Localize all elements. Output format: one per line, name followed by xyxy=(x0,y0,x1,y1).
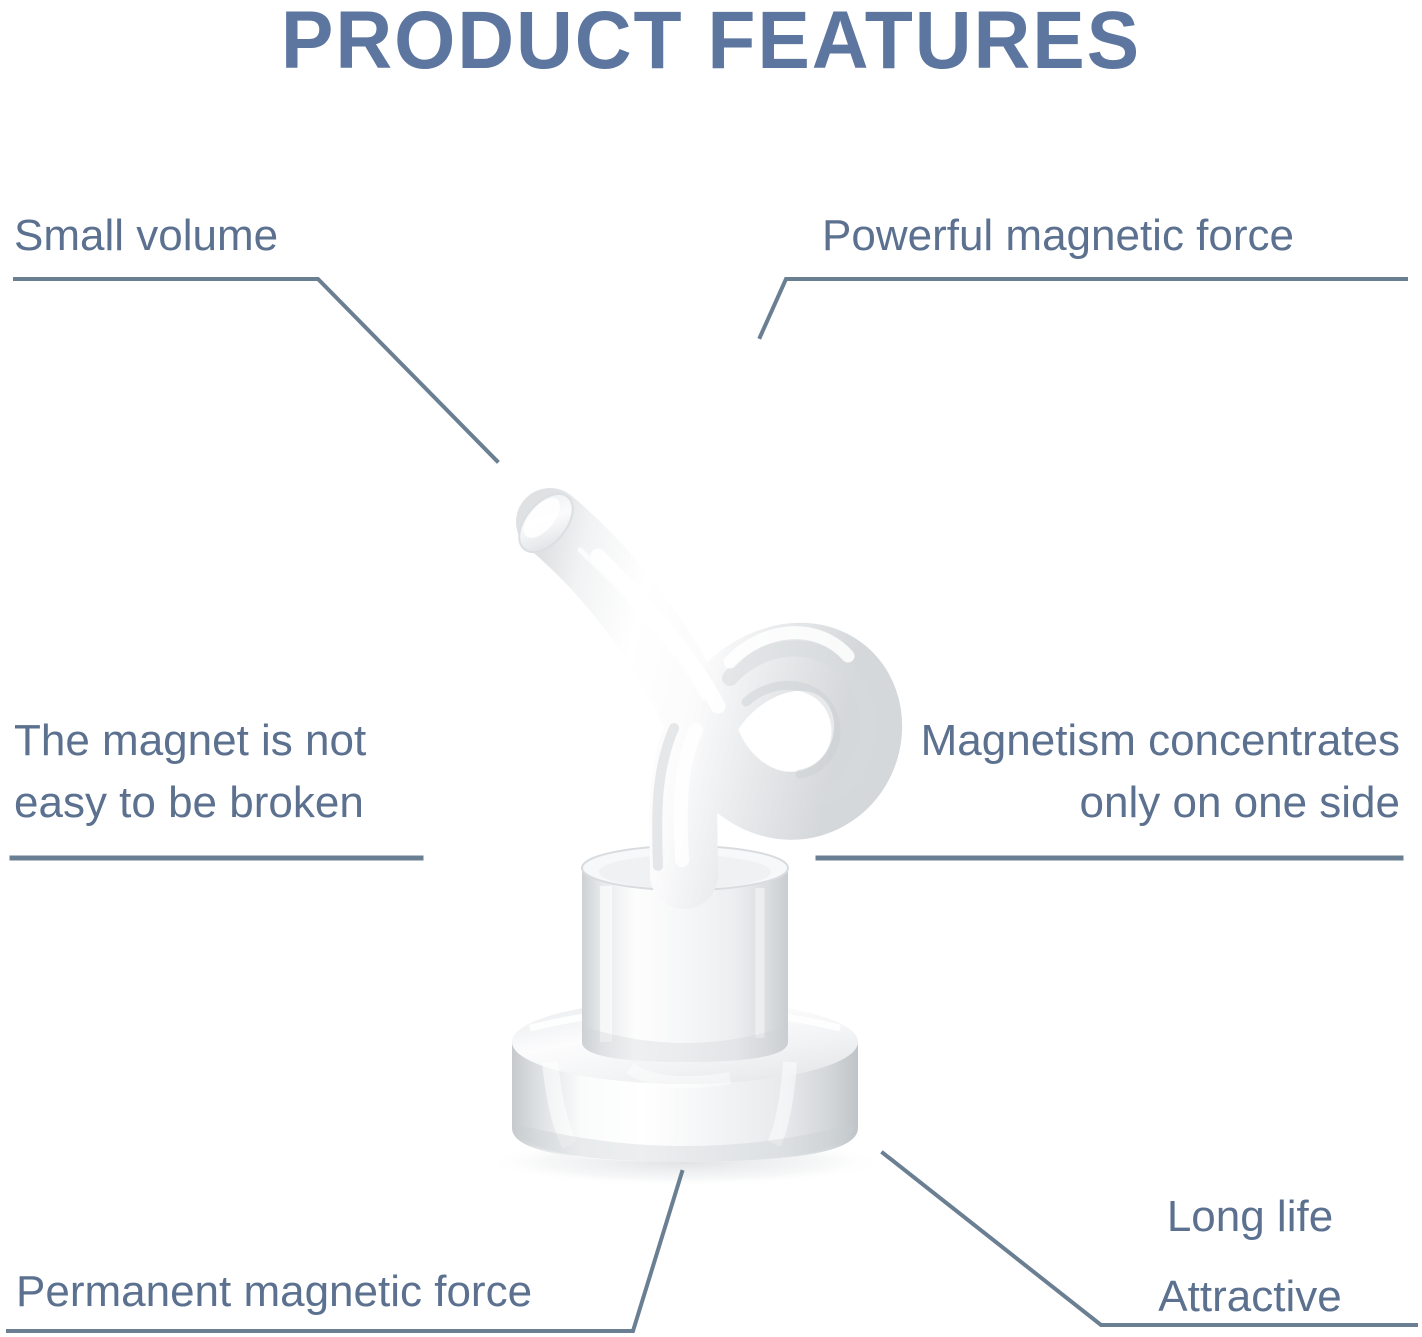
feature-label-powerful-magnetic-force: Powerful magnetic force xyxy=(822,206,1294,266)
feature-label-permanent-magnetic-force: Permanent magnetic force xyxy=(16,1262,532,1322)
feature-label-attractive: Attractive xyxy=(1100,1266,1400,1328)
feature-label-magnetism-concentrates-line2: only on one side xyxy=(818,772,1400,834)
page-title: PRODUCT FEATURES xyxy=(28,0,1393,88)
feature-label-small-volume: Small volume xyxy=(14,206,278,266)
feature-label-magnet-not-broken-line1: The magnet is not xyxy=(14,710,366,772)
feature-label-magnetism-concentrates: Magnetism concentrates only on one side xyxy=(818,710,1400,834)
feature-label-long-life-attractive: Long life Attractive xyxy=(1100,1186,1400,1328)
feature-label-magnet-not-broken: The magnet is not easy to be broken xyxy=(14,710,366,834)
hook-body xyxy=(509,484,868,875)
feature-label-magnet-not-broken-line2: easy to be broken xyxy=(14,772,366,834)
product-features-infographic: PRODUCT FEATURES xyxy=(0,0,1422,1337)
feature-label-magnetism-concentrates-line1: Magnetism concentrates xyxy=(818,710,1400,772)
leader-line-small-volume xyxy=(15,279,497,461)
feature-label-long-life: Long life xyxy=(1100,1186,1400,1248)
